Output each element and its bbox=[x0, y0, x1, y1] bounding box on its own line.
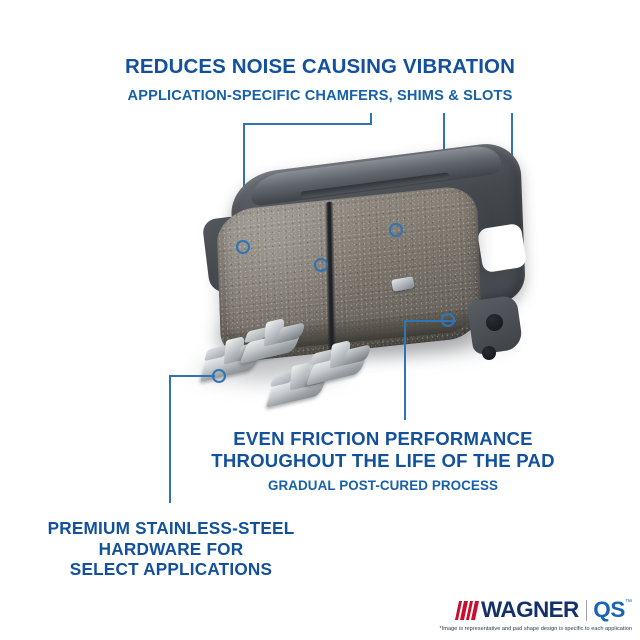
brand-name: WAGNER bbox=[481, 599, 579, 622]
brake-pad-infographic: REDUCES NOISE CAUSING VIBRATION APPLICAT… bbox=[0, 0, 640, 640]
leader-line-hardware-horizontal bbox=[169, 375, 215, 377]
leader-line-noise-horizontal bbox=[243, 123, 372, 125]
trademark-symbol: ™ bbox=[625, 599, 632, 606]
wagner-stripes-icon bbox=[455, 601, 481, 620]
leader-line-friction-drop bbox=[404, 320, 406, 420]
callout-marker-chamfer bbox=[236, 240, 250, 254]
sub-brand-name: QS bbox=[593, 599, 625, 622]
noise-callout-subhead: APPLICATION-SPECIFIC CHAMFERS, SHIMS & S… bbox=[0, 88, 640, 104]
rear-pad-notch bbox=[477, 223, 527, 273]
friction-callout-headline: EVEN FRICTION PERFORMANCE THROUGHOUT THE… bbox=[148, 428, 618, 472]
friction-callout-subhead: GRADUAL POST-CURED PROCESS bbox=[148, 478, 618, 493]
pad-ear-hole-lower bbox=[482, 346, 496, 360]
leader-line-noise-center-drop bbox=[370, 113, 372, 124]
product-photo-stage bbox=[0, 130, 640, 430]
logo-row: WAGNER QS ™ bbox=[457, 598, 632, 622]
callout-marker-slot bbox=[314, 258, 328, 272]
callout-marker-shim bbox=[389, 223, 403, 237]
disclaimer-text: *Image is representative and pad shape d… bbox=[440, 626, 632, 632]
noise-callout-headline: REDUCES NOISE CAUSING VIBRATION bbox=[0, 56, 640, 79]
hardware-callout-headline: PREMIUM STAINLESS-STEEL HARDWARE FOR SEL… bbox=[6, 518, 336, 580]
logo-divider bbox=[586, 600, 588, 621]
pad-ear-hole-upper bbox=[486, 314, 503, 331]
wagner-qs-logo: WAGNER QS ™ *Image is representative and… bbox=[440, 598, 632, 632]
leader-line-friction-horizontal bbox=[404, 320, 456, 322]
